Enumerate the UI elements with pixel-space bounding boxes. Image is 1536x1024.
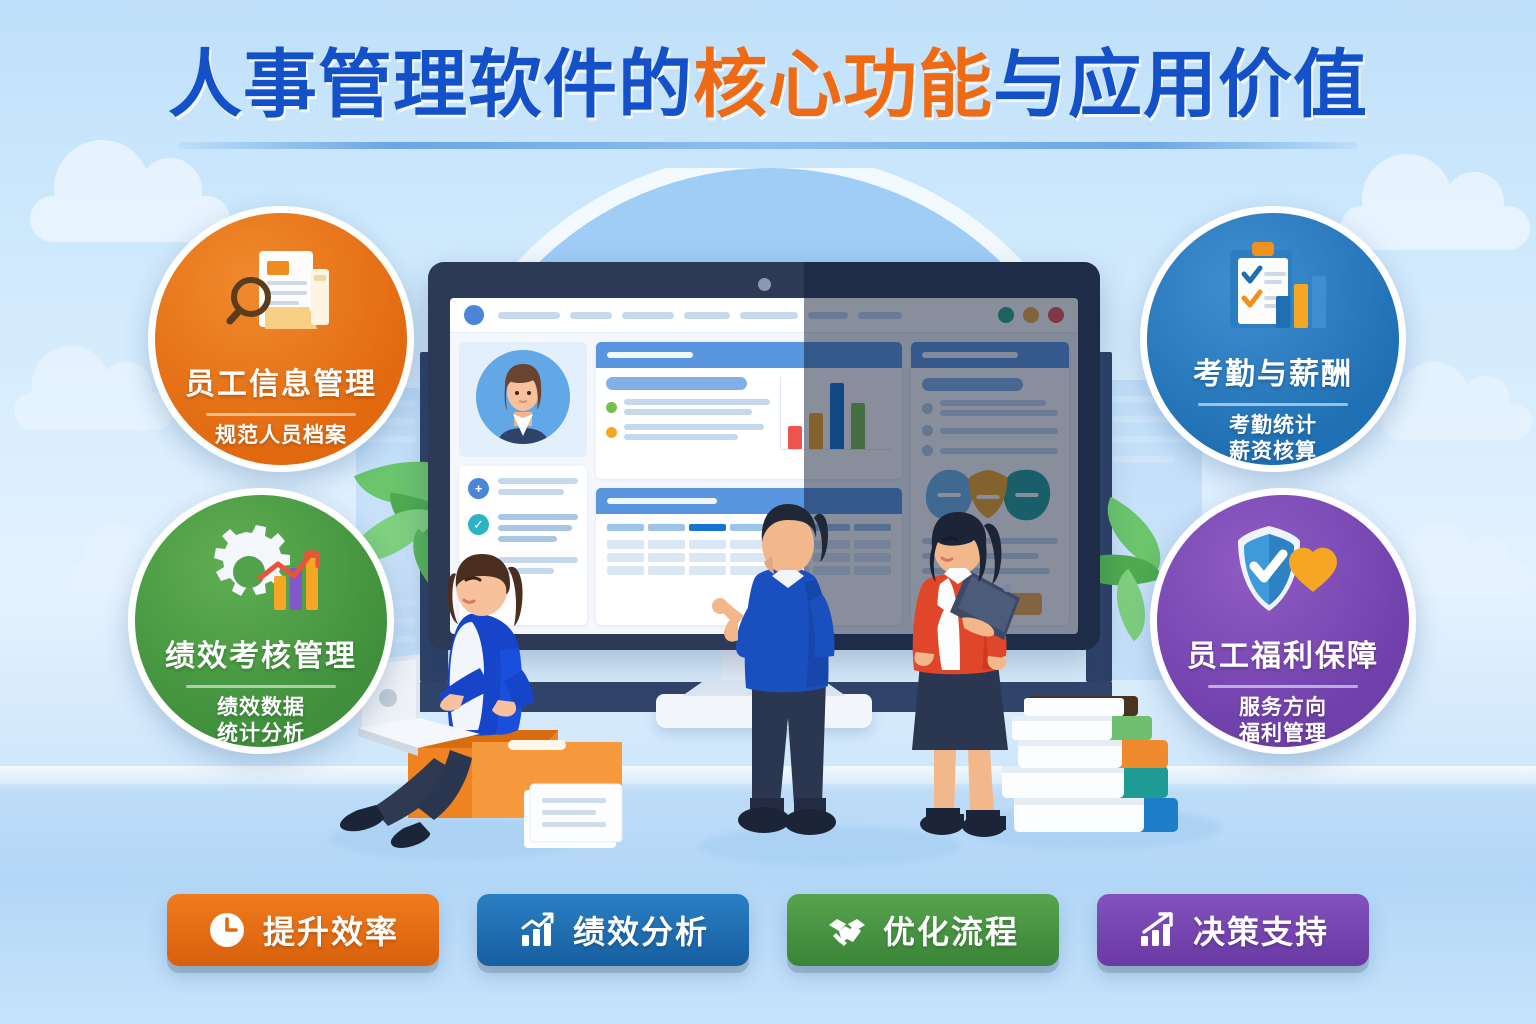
growth-icon (1137, 910, 1177, 950)
status-dot-orange (606, 427, 617, 438)
handshake-icon (827, 910, 867, 950)
nav-tab[interactable] (740, 312, 798, 319)
backdrop-line (1112, 456, 1174, 463)
badge-attendance-payroll[interactable]: 考勤与薪酬 考勤统计 薪资核算 (1140, 206, 1406, 472)
avatar (476, 350, 570, 444)
cloud-icon (14, 392, 174, 430)
nav-tab[interactable] (684, 312, 730, 319)
pill-label: 决策支持 (1193, 907, 1329, 953)
pill-analysis[interactable]: 绩效分析 (477, 894, 749, 966)
gear-chart-icon (202, 523, 320, 625)
chart-card (596, 342, 902, 479)
calendar-header-cell (607, 524, 644, 531)
status-dot-green (606, 402, 617, 413)
title-underline (178, 142, 1358, 149)
chart-bar (809, 413, 823, 449)
badge-subtitle: 规范人员档案 (215, 423, 347, 449)
nav-tab[interactable] (858, 312, 902, 319)
pill-label: 优化流程 (883, 907, 1019, 953)
clock-icon (207, 910, 247, 950)
person-add-icon: + (468, 478, 489, 499)
pill-label: 绩效分析 (573, 907, 709, 953)
list-item[interactable]: ✓ (468, 514, 578, 542)
standing-man-pointing (690, 500, 890, 855)
badge-title: 绩效考核管理 (165, 631, 357, 683)
chart-bar (851, 403, 865, 449)
title-segment-2: 的 (618, 43, 693, 126)
section-label (922, 378, 1023, 391)
pill-process[interactable]: 优化流程 (787, 894, 1059, 966)
calendar-day-cell[interactable] (607, 540, 644, 549)
badge-subtitle: 绩效数据 统计分析 (217, 695, 305, 748)
window-dot-green[interactable] (998, 307, 1014, 323)
window-dot-red[interactable] (1048, 307, 1064, 323)
badge-title: 员工信息管理 (185, 359, 377, 411)
shield-heart-icon (1225, 523, 1341, 625)
badge-employee-info[interactable]: 员工信息管理 规范人员档案 (148, 206, 414, 472)
bullet-icon (922, 425, 933, 436)
pill-efficiency[interactable]: 提升效率 (167, 894, 439, 966)
avatar-card (459, 342, 587, 457)
chart-bar (830, 383, 844, 449)
badge-title: 考勤与薪酬 (1193, 349, 1353, 401)
check-shield-icon: ✓ (468, 514, 489, 535)
nav-tab[interactable] (498, 312, 560, 319)
section-label (606, 377, 747, 390)
clipboard-checklist-chart-icon (1214, 241, 1332, 343)
document-search-icon (225, 241, 337, 353)
badge-subtitle: 服务方向 福利管理 (1239, 695, 1327, 748)
nav-tab[interactable] (808, 312, 848, 319)
book-stack (992, 648, 1182, 849)
nav-tab[interactable] (622, 312, 674, 319)
list-item[interactable]: + (468, 478, 578, 499)
title-segment-4: 应用价值 (1068, 43, 1368, 126)
window-dot-amber[interactable] (1023, 307, 1039, 323)
benefit-pill-row: 提升效率 绩效分析 (0, 894, 1536, 966)
badge-welfare[interactable]: 员工福利保障 服务方向 福利管理 (1150, 488, 1416, 754)
chart-bar (788, 426, 802, 449)
pill-support[interactable]: 决策支持 (1097, 894, 1369, 966)
mini-bar-chart (780, 377, 892, 450)
bullet-icon (922, 403, 933, 414)
browser-toolbar (450, 298, 1078, 333)
cloud-icon (1382, 404, 1532, 440)
title-segment-1: 人事管理软件 (168, 43, 618, 126)
card-header (596, 342, 902, 368)
app-logo-icon (464, 305, 484, 325)
calendar-header-cell (648, 524, 685, 531)
page-title: 人事管理软件的核心功能与应用价值 (0, 48, 1536, 122)
bar-chart-icon (517, 910, 557, 950)
calendar-day-cell[interactable] (648, 540, 685, 549)
bullet-icon (922, 445, 933, 456)
title-highlight: 核心功能 (693, 43, 993, 126)
webcam-icon (758, 278, 771, 291)
calendar-day-cell[interactable] (648, 553, 685, 562)
cloud-icon (1340, 206, 1530, 250)
pill-label: 提升效率 (263, 907, 399, 953)
paper-stack (520, 780, 630, 865)
calendar-day-cell[interactable] (648, 566, 685, 575)
infographic-canvas: 人事管理软件的核心功能与应用价值 (0, 0, 1536, 1024)
badge-title: 员工福利保障 (1187, 631, 1379, 683)
card-header (911, 342, 1069, 368)
nav-tab[interactable] (570, 312, 612, 319)
title-segment-3: 与 (993, 43, 1068, 126)
badge-performance[interactable]: 绩效考核管理 绩效数据 统计分析 (128, 488, 394, 754)
badge-subtitle: 考勤统计 薪资核算 (1229, 413, 1317, 466)
